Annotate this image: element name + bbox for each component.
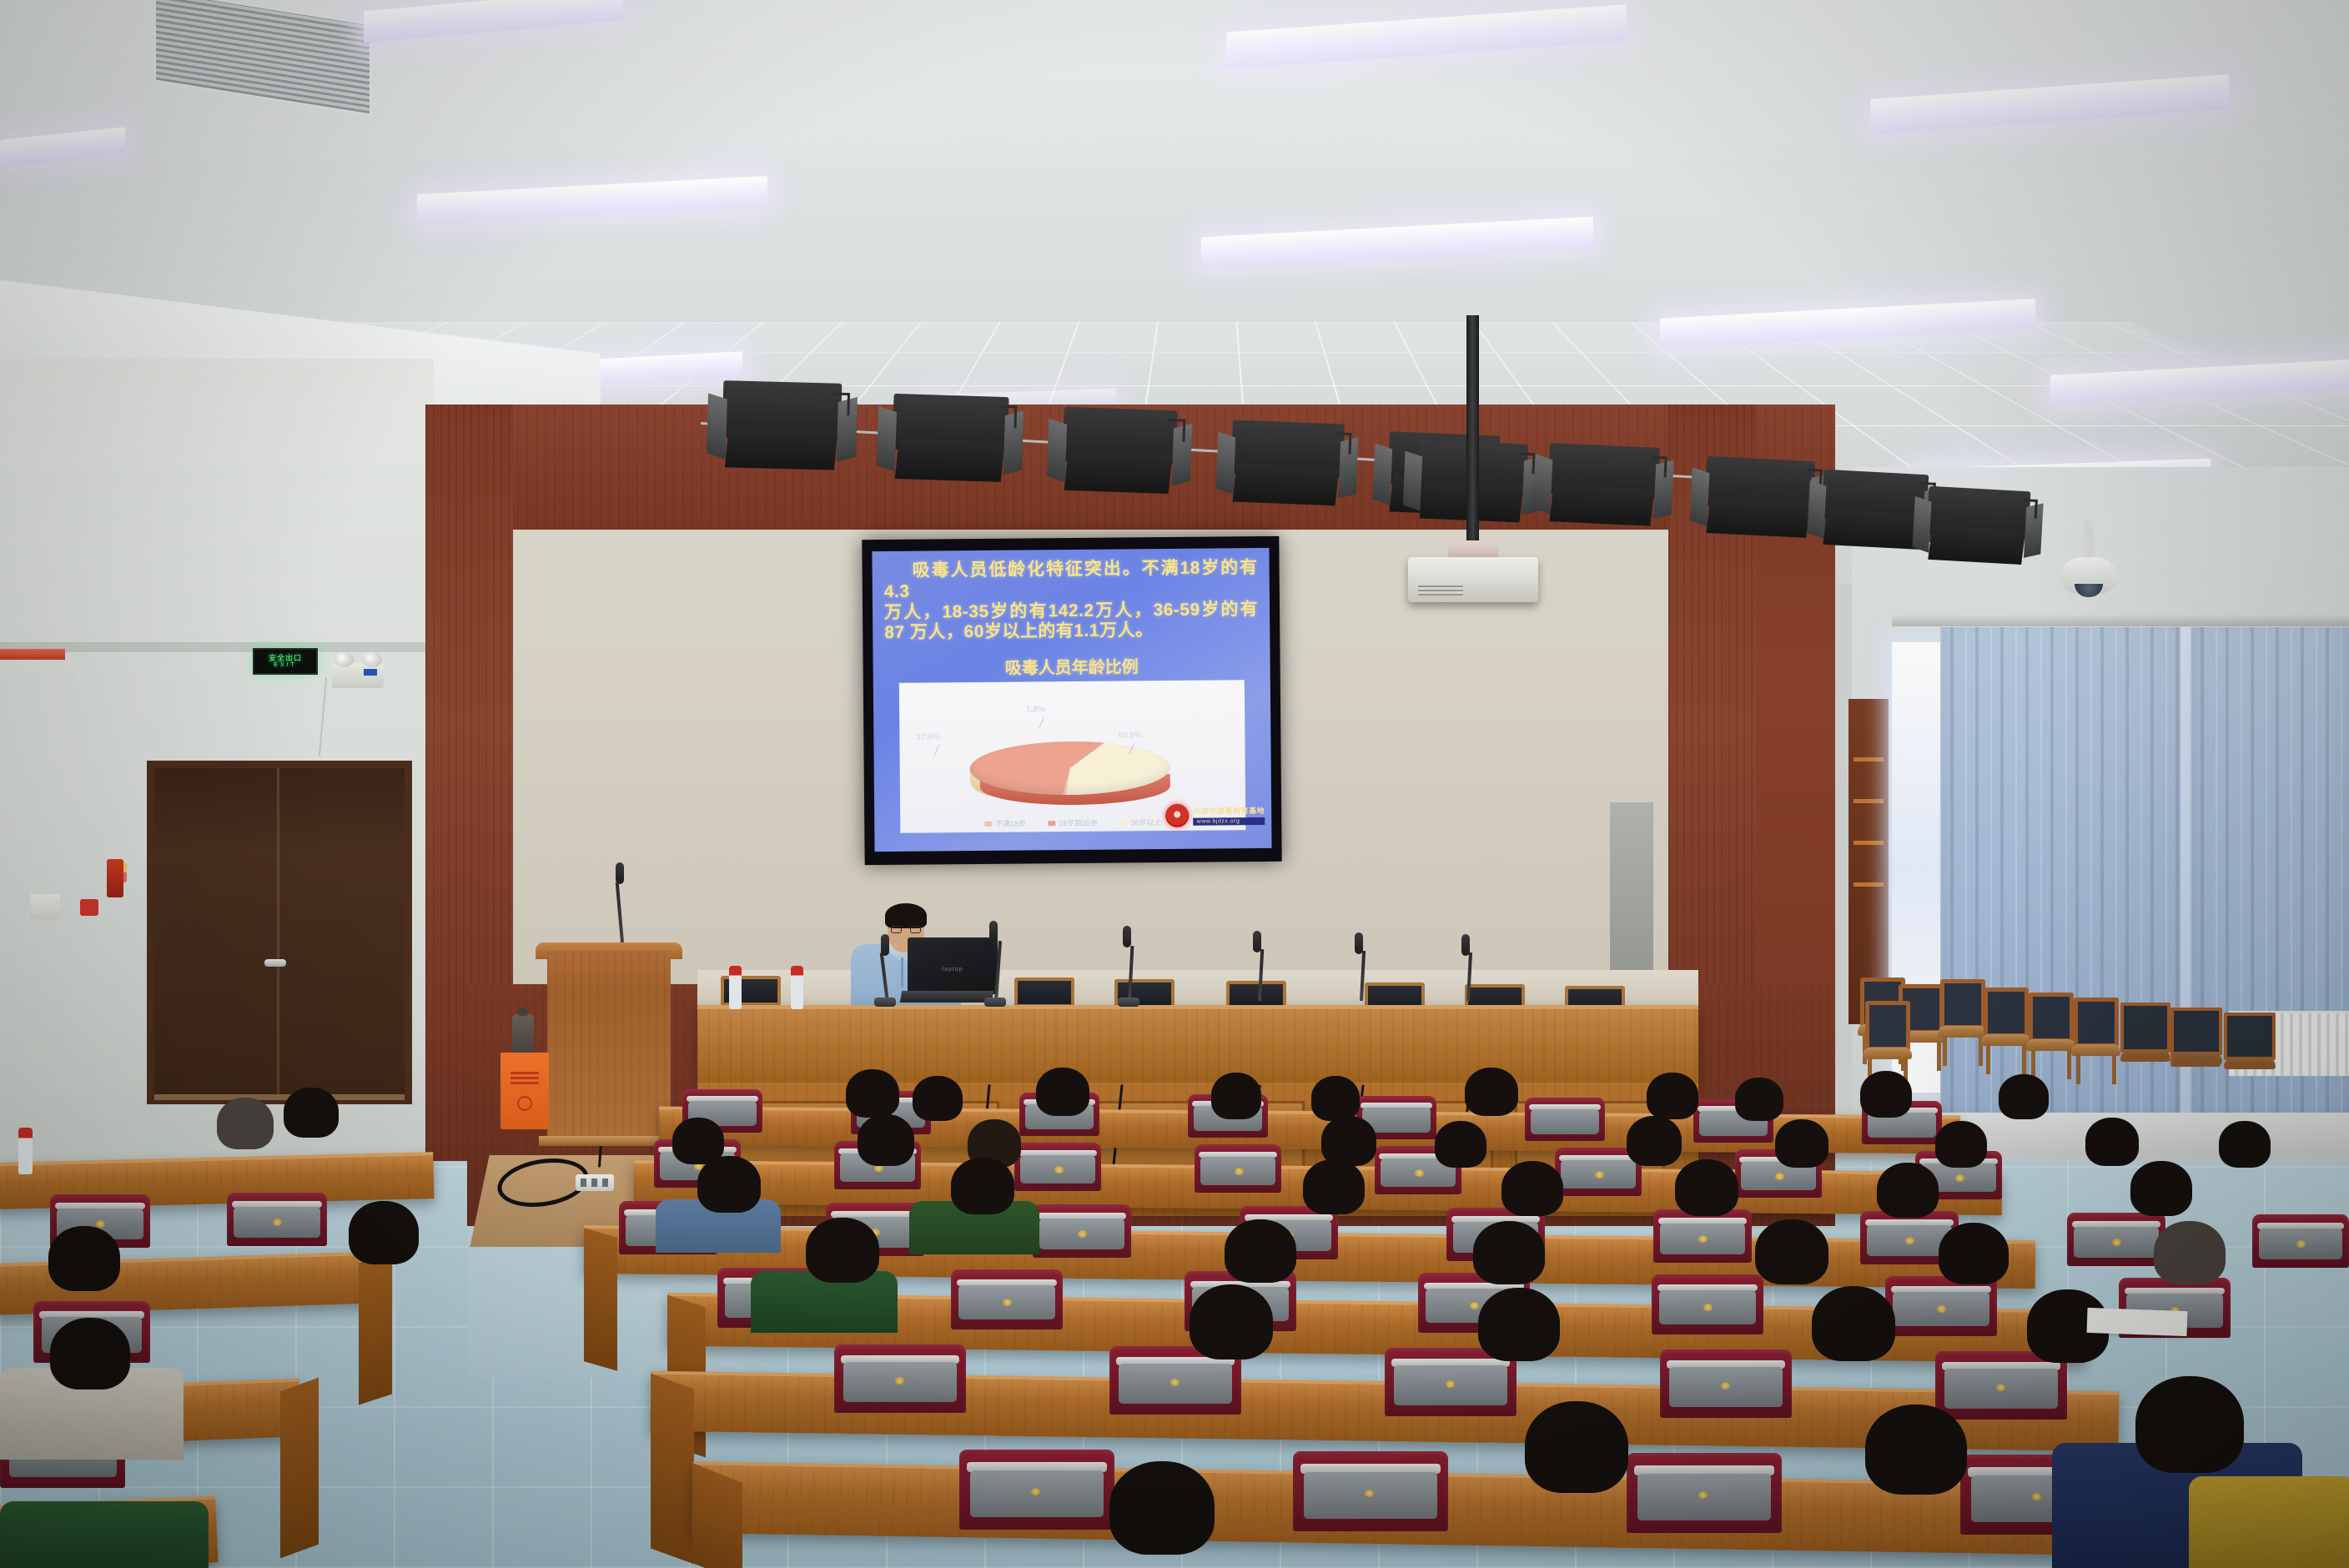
auditorium-seat[interactable]	[1293, 1451, 1448, 1531]
legend-swatch-0	[984, 821, 992, 826]
audience-head	[1525, 1401, 1628, 1493]
auditorium-seat[interactable]	[227, 1193, 327, 1246]
exit-sign: 安全出口 EXIT	[253, 648, 318, 675]
audience-head	[1860, 1071, 1912, 1118]
logo-organization-name: 北京市禁毒教育基地	[1194, 805, 1265, 817]
audience-head	[1478, 1288, 1560, 1361]
audience-head	[2085, 1118, 2139, 1166]
emergency-lamp-right	[362, 652, 382, 667]
emergency-light-badge	[364, 669, 377, 676]
audience-head	[1647, 1073, 1698, 1119]
pie-label-2: 37.6%	[916, 732, 939, 741]
auditorium-seat[interactable]	[1033, 1204, 1131, 1258]
auditorium-seat[interactable]	[1627, 1453, 1782, 1533]
wooden-chair[interactable]	[2029, 993, 2074, 1079]
audience-head	[1190, 1284, 1273, 1359]
projected-slide: 吸毒人员低龄化特征突出。不满18岁的有4.3 万人，18-35岁的有142.2万…	[872, 548, 1271, 852]
audience-head	[1627, 1116, 1682, 1166]
audience-head	[1675, 1159, 1738, 1216]
wall-fire-button[interactable]	[80, 899, 98, 916]
auditorium-seat[interactable]	[1653, 1209, 1752, 1263]
stage-light	[1547, 443, 1660, 528]
audience-head	[1501, 1161, 1563, 1216]
panel-seat-back	[1014, 977, 1074, 1008]
laptop-keyboard[interactable]	[900, 991, 993, 1003]
emblem-icon	[1166, 804, 1190, 827]
microphone-base	[874, 998, 896, 1007]
wall-utility-box	[30, 894, 60, 919]
stage-light	[722, 380, 843, 472]
water-bottle[interactable]	[791, 966, 803, 1009]
audience-head	[1311, 1076, 1360, 1121]
stage-light	[1703, 456, 1815, 540]
projector-mount-pole	[1466, 315, 1479, 565]
projector-vent	[1418, 584, 1463, 596]
audience-shoulders	[2189, 1476, 2349, 1568]
bag-print	[511, 1071, 539, 1084]
pie-label-1: 60.6%	[1118, 731, 1141, 740]
bench-desk-end-panel	[359, 1253, 392, 1405]
auditorium-seat[interactable]	[2252, 1214, 2349, 1268]
audience-head	[1435, 1121, 1486, 1168]
audience-head	[217, 1098, 274, 1149]
audience-head	[2130, 1161, 2192, 1216]
legend-swatch-2	[1119, 820, 1127, 825]
audience-head	[2135, 1376, 2244, 1473]
auditorium-seat[interactable]	[2067, 1213, 2165, 1266]
logo-website-url: www.bjdzx.org	[1194, 817, 1265, 826]
microphone-capsule	[616, 862, 624, 884]
emergency-lamp-left	[334, 652, 354, 667]
padded-chair[interactable]	[2224, 1013, 2276, 1089]
lectern[interactable]	[547, 951, 671, 1143]
audience-head	[1109, 1461, 1215, 1555]
water-bottle[interactable]	[18, 1128, 33, 1174]
auditorium-seat[interactable]	[1014, 1143, 1101, 1191]
audience-head	[349, 1201, 419, 1264]
legend-item-1: 18岁到35岁	[1048, 817, 1098, 829]
paper-sheet	[2087, 1308, 2188, 1336]
audience-head	[1812, 1286, 1895, 1361]
water-bottle[interactable]	[729, 966, 742, 1009]
entrance-door[interactable]	[147, 761, 412, 1104]
padded-chair[interactable]	[2170, 1008, 2222, 1084]
auditorium-seat[interactable]	[1885, 1276, 1997, 1336]
wooden-chair[interactable]	[1940, 979, 1985, 1066]
audience-head	[1465, 1068, 1518, 1116]
power-strip-icon[interactable]	[576, 1174, 614, 1191]
door-seam	[277, 768, 279, 1097]
audience-head	[2154, 1221, 2226, 1284]
door-kickplate	[154, 1094, 405, 1100]
audience-head	[913, 1076, 963, 1121]
audience-head	[1473, 1221, 1545, 1284]
audience-head	[1775, 1119, 1828, 1168]
audience-head	[858, 1114, 914, 1166]
auditorium-seat[interactable]	[951, 1269, 1063, 1329]
audience-head	[1321, 1116, 1376, 1166]
audience-head	[2219, 1121, 2271, 1168]
bench-desk-end-panel	[651, 1374, 694, 1565]
slide-organization-logo: 北京市禁毒教育基地 www.bjdzx.org	[1166, 803, 1265, 827]
legend-swatch-1	[1048, 821, 1055, 826]
head-table-backdrop	[697, 970, 1698, 1007]
microphone-capsule	[989, 921, 998, 942]
exit-sign-label-en: EXIT	[274, 662, 297, 668]
audience-head	[1303, 1159, 1365, 1214]
microphone-capsule	[881, 934, 889, 956]
auditorium-seat[interactable]	[834, 1344, 966, 1413]
audience-head	[1735, 1078, 1783, 1121]
padded-chair[interactable]	[2120, 1003, 2170, 1083]
stage-light	[1925, 486, 2031, 567]
presenter-shirt-placket	[901, 957, 903, 988]
microphone-capsule	[1461, 934, 1470, 956]
laptop-screen[interactable]: laptop	[908, 937, 998, 994]
exit-sign-label-cn: 安全出口	[269, 655, 302, 662]
microphone-capsule	[1253, 931, 1261, 952]
fire-extinguisher-icon	[107, 859, 123, 897]
audience-head	[951, 1158, 1014, 1214]
audience-head	[1211, 1073, 1261, 1119]
wooden-chair[interactable]	[2074, 998, 2119, 1084]
auditorium-seat[interactable]	[1652, 1274, 1763, 1334]
microphone-base	[984, 998, 1006, 1007]
audience-shoulders	[0, 1501, 209, 1568]
slide-body-line3: 万人，60岁以上的有1.1万人。	[910, 621, 1154, 642]
legend-item-2: 36岁以上	[1119, 817, 1161, 827]
auditorium-seat[interactable]	[1525, 1098, 1605, 1141]
chart-title: 吸毒人员年龄比例	[885, 652, 1259, 680]
legend-label-2: 36岁以上	[1130, 817, 1161, 827]
head-table-top	[697, 1005, 1698, 1084]
stage-light	[891, 394, 1009, 484]
auditorium-seat[interactable]	[959, 1450, 1114, 1530]
legend-item-0: 不满18岁	[984, 818, 1026, 829]
audience-head	[846, 1069, 899, 1118]
lecture-hall-photo: 安全出口 EXIT	[0, 0, 2349, 1568]
wall-pipe	[0, 649, 65, 660]
slide-text-block: 吸毒人员低龄化特征突出。不满18岁的有4.3 万人，18-35岁的有142.2万…	[884, 558, 1259, 644]
orange-tote-bag[interactable]	[500, 1053, 549, 1129]
curtain-rod	[1892, 613, 2349, 626]
stage-light	[1230, 420, 1345, 507]
audience-head	[1999, 1074, 2049, 1119]
audience-head	[1755, 1219, 1828, 1284]
audience-head	[284, 1088, 339, 1138]
door-handle-icon[interactable]	[264, 959, 286, 967]
audience-head	[1939, 1223, 2009, 1284]
bench-desk-end-panel	[280, 1378, 319, 1559]
audience-head	[1877, 1163, 1939, 1218]
legend-label-1: 18岁到35岁	[1059, 817, 1098, 828]
audience-head	[697, 1156, 761, 1213]
microphone-base	[1118, 998, 1139, 1007]
audience-head	[1865, 1405, 1967, 1495]
auditorium-seat[interactable]	[1195, 1144, 1281, 1193]
bench-desk-end-panel	[584, 1228, 617, 1370]
audience-head	[1225, 1219, 1296, 1283]
audience-head	[806, 1218, 879, 1283]
left-wall-trim	[0, 642, 434, 652]
presenter-hair	[885, 903, 927, 928]
audience-head	[48, 1226, 120, 1291]
audience-head	[50, 1318, 130, 1390]
emergency-light-icon	[332, 663, 384, 688]
wooden-chair[interactable]	[1984, 988, 2029, 1074]
bag-seal-icon	[517, 1096, 532, 1111]
audience-head	[1036, 1068, 1089, 1116]
legend-label-0: 不满18岁	[995, 818, 1026, 829]
presenter-glasses-icon	[891, 926, 921, 933]
slide-body-line1: 吸毒人员低龄化特征突出。不满18岁的有4.3	[884, 558, 1258, 602]
laptop-brand-label: laptop	[942, 967, 963, 972]
pie-label-0: 1.8%	[1026, 705, 1045, 714]
auditorium-seat[interactable]	[1660, 1349, 1792, 1418]
stage-light	[1061, 407, 1177, 496]
audience-head	[1935, 1121, 1987, 1168]
microphone-capsule	[1123, 926, 1131, 947]
microphone-capsule	[1355, 932, 1363, 954]
projection-screen-frame: 吸毒人员低龄化特征突出。不满18岁的有4.3 万人，18-35岁的有142.2万…	[862, 536, 1281, 865]
logo-text-block: 北京市禁毒教育基地 www.bjdzx.org	[1194, 805, 1265, 826]
